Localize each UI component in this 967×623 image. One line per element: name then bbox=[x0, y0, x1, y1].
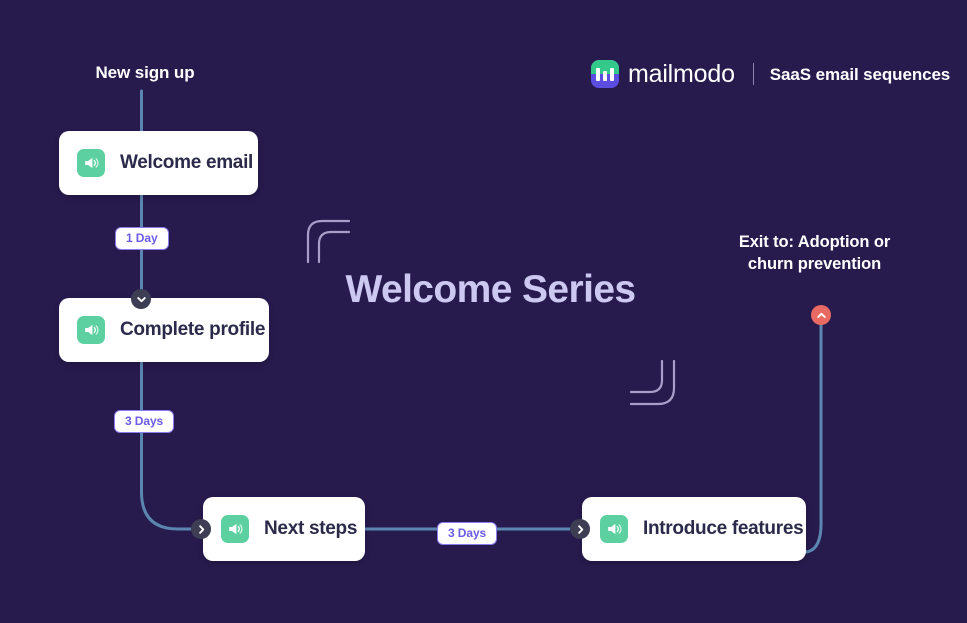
exit-label-line-2: churn prevention bbox=[748, 255, 881, 273]
wire-profile-to-next bbox=[142, 362, 204, 529]
brand-header: mailmodo SaaS email sequences bbox=[591, 59, 950, 89]
node-label: Complete profile bbox=[120, 319, 265, 341]
megaphone-icon bbox=[221, 515, 249, 543]
logo-bar-left bbox=[596, 68, 600, 81]
node-introduce-features[interactable]: Introduce features bbox=[582, 497, 806, 561]
megaphone-icon bbox=[77, 149, 105, 177]
exit-label: Exit to: Adoption or churn prevention bbox=[714, 231, 915, 275]
exit-label-line-1: Exit to: Adoption or bbox=[739, 233, 890, 251]
brand-divider bbox=[753, 63, 754, 85]
mailmodo-logo-icon bbox=[591, 60, 619, 88]
node-next-steps[interactable]: Next steps bbox=[203, 497, 365, 561]
brand-name: mailmodo bbox=[628, 62, 735, 87]
decorative-corner-arc-top-left bbox=[305, 218, 357, 264]
delay-badge-1-day[interactable]: 1 Day bbox=[115, 227, 169, 250]
entry-trigger-label: New sign up bbox=[45, 63, 245, 83]
delay-badge-3-days-profile[interactable]: 3 Days bbox=[114, 410, 174, 433]
delay-badge-3-days-features[interactable]: 3 Days bbox=[437, 522, 497, 545]
node-complete-profile[interactable]: Complete profile bbox=[59, 298, 269, 362]
megaphone-icon bbox=[600, 515, 628, 543]
flow-diagram-canvas: mailmodo SaaS email sequences Welcome Se… bbox=[0, 0, 967, 623]
chevron-up-icon[interactable] bbox=[811, 305, 831, 325]
brand-tagline: SaaS email sequences bbox=[770, 66, 950, 83]
chevron-right-icon[interactable] bbox=[570, 519, 590, 539]
decorative-corner-arc-bottom-right bbox=[626, 358, 678, 408]
chevron-down-icon[interactable] bbox=[131, 289, 151, 309]
node-label: Next steps bbox=[264, 518, 357, 540]
node-welcome-email[interactable]: Welcome email bbox=[59, 131, 258, 195]
node-label: Welcome email bbox=[120, 152, 253, 174]
wire-features-to-exit bbox=[806, 315, 821, 552]
chevron-right-icon[interactable] bbox=[191, 519, 211, 539]
logo-bar-center bbox=[603, 71, 607, 81]
megaphone-icon bbox=[77, 316, 105, 344]
logo-bar-right bbox=[610, 68, 614, 81]
node-label: Introduce features bbox=[643, 518, 803, 540]
page-title: Welcome Series bbox=[343, 268, 638, 312]
